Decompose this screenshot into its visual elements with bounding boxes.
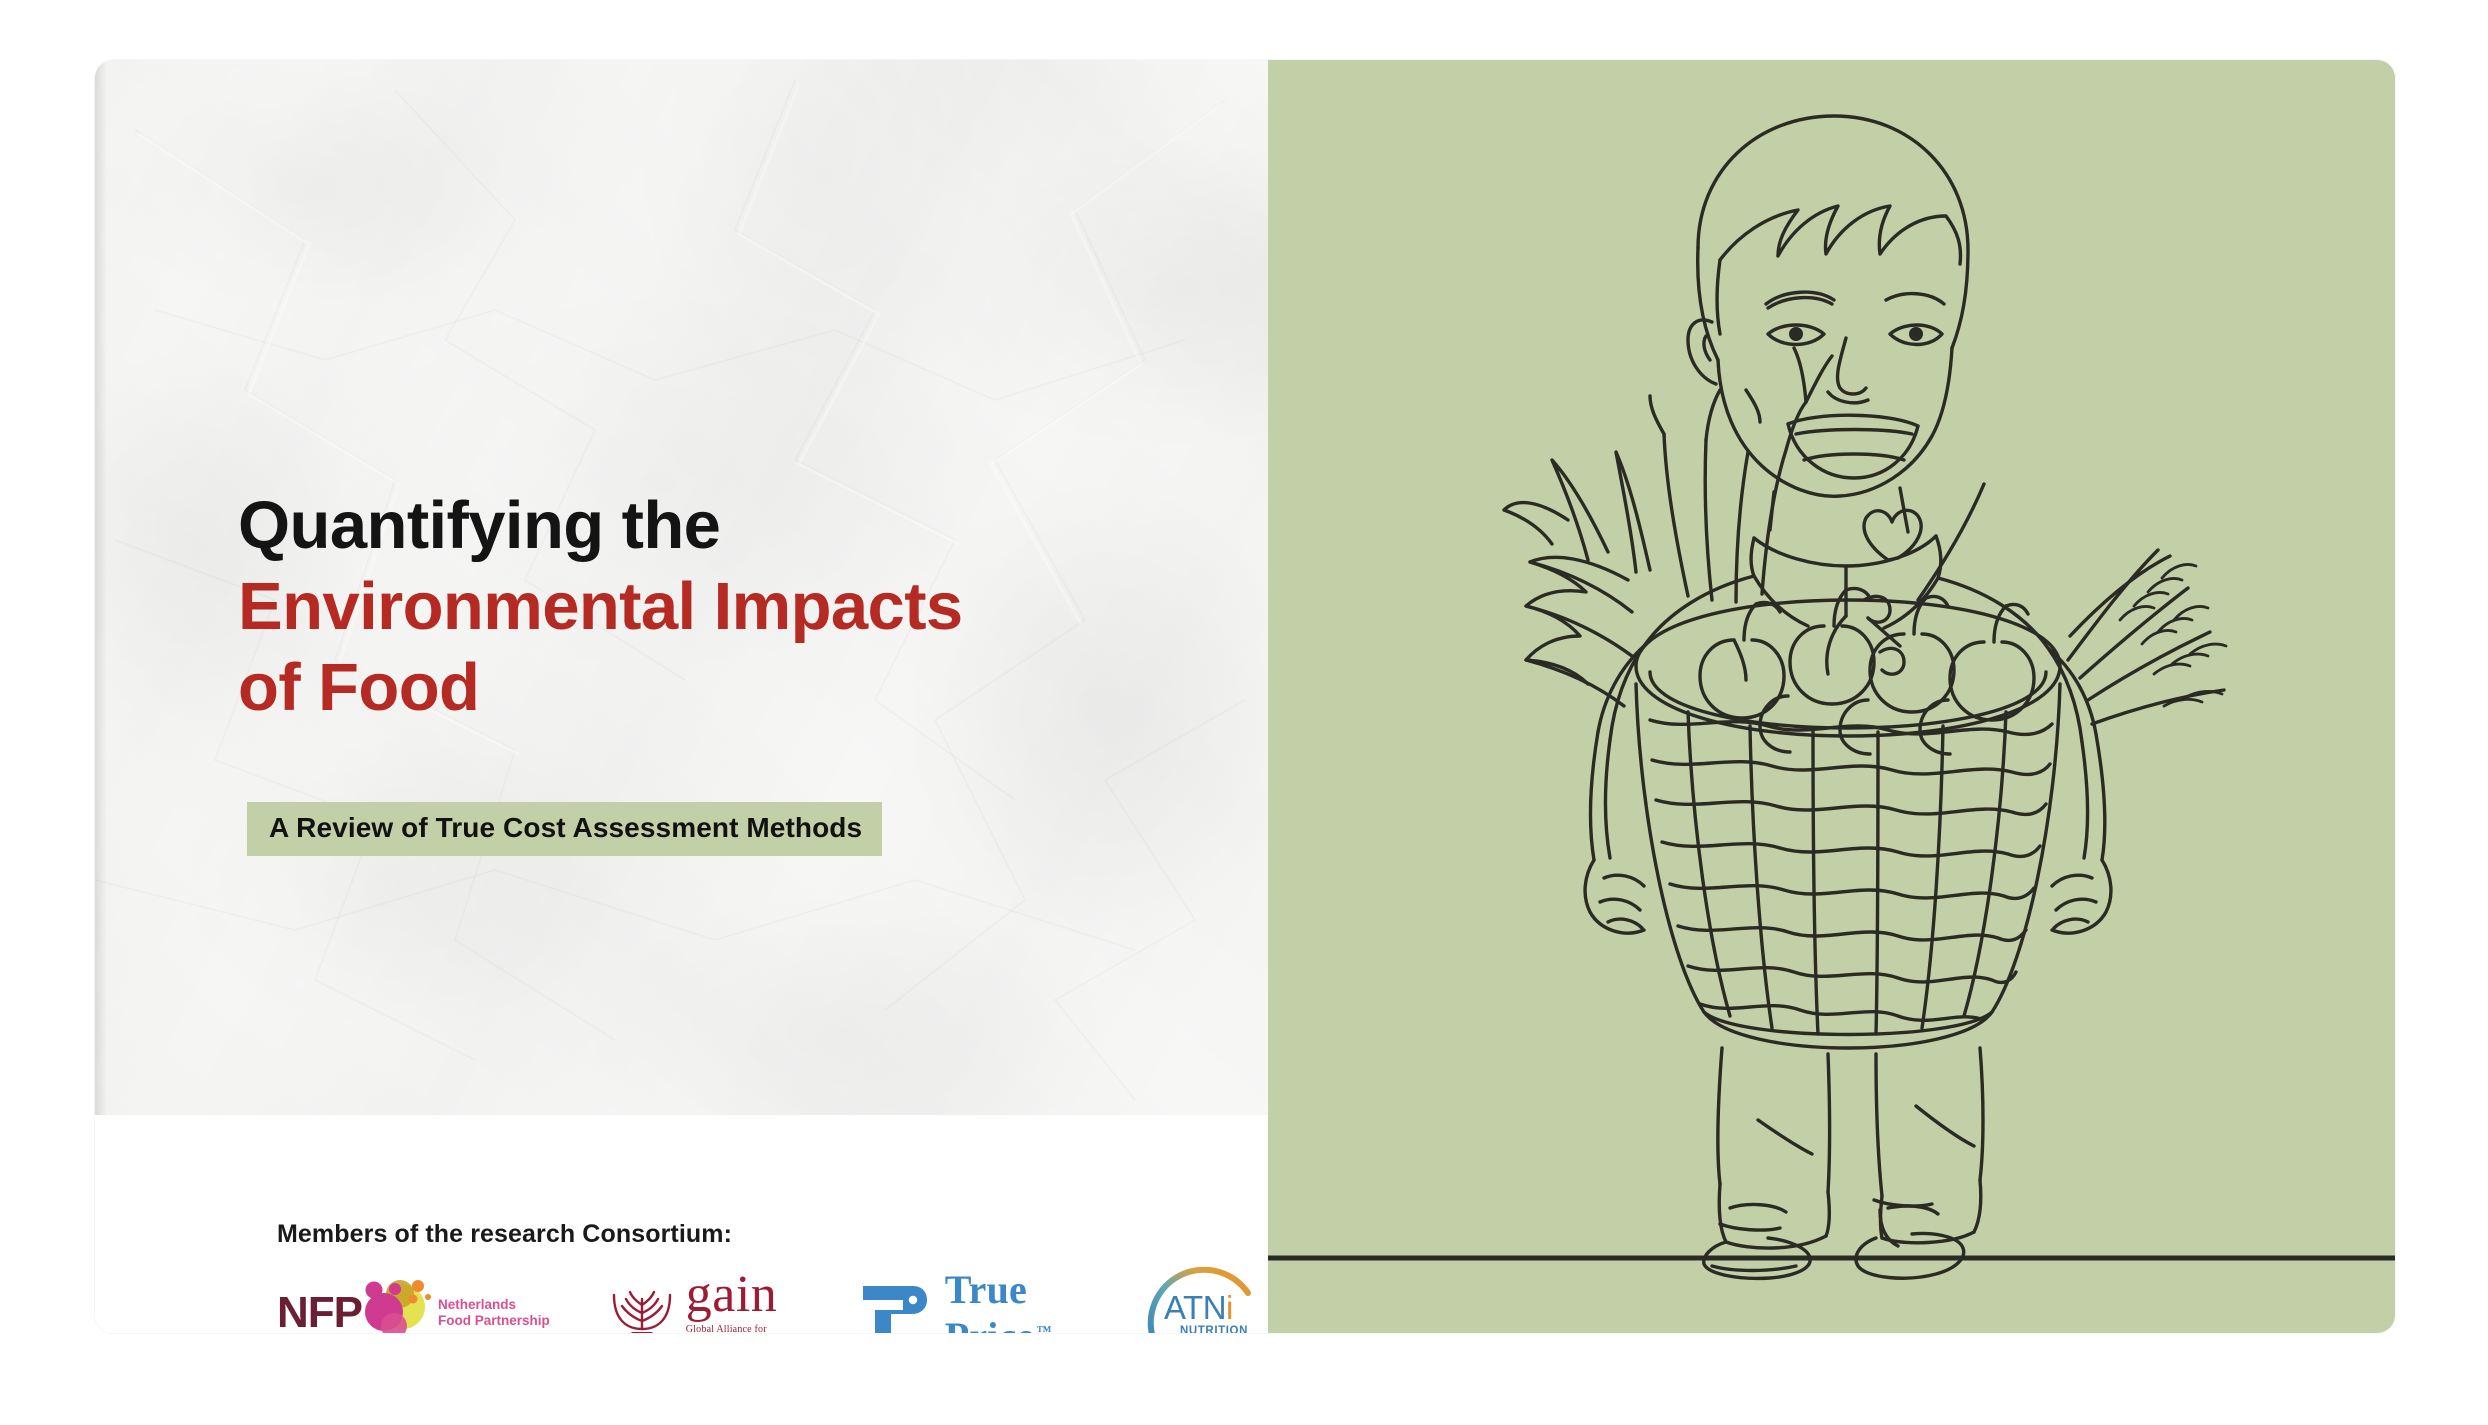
gain-wordmark: gain xyxy=(686,1266,778,1323)
title-line-3: of Food xyxy=(238,647,1218,728)
cover-card: Quantifying the Environmental Impacts of… xyxy=(95,60,2395,1333)
consortium-label: Members of the research Consortium: xyxy=(277,1220,1268,1249)
title-line-2: Environmental Impacts xyxy=(238,566,1218,647)
cover-right-panel xyxy=(1268,60,2395,1333)
logo-nfp[interactable]: NFP xyxy=(277,1267,550,1333)
true-price-wordmark: True Price™ xyxy=(945,1266,1072,1333)
title-line-1: Quantifying the xyxy=(238,485,1218,566)
nfp-tagline-line-1: Netherlands xyxy=(438,1297,516,1312)
svg-text:ATN: ATN xyxy=(1164,1289,1226,1326)
consortium-logo-row: NFP xyxy=(277,1267,1268,1333)
cover-left-panel: Quantifying the Environmental Impacts of… xyxy=(95,60,1268,1333)
nfp-wordmark: NFP xyxy=(277,1291,362,1333)
logo-true-price[interactable]: True Price™ xyxy=(857,1267,1072,1333)
paper-edge-shadow xyxy=(95,60,107,1115)
svg-text:i: i xyxy=(1226,1289,1233,1326)
gain-tagline: Global Alliance for Improved Nutrition xyxy=(686,1324,768,1333)
page-title: Quantifying the Environmental Impacts of… xyxy=(238,485,1218,728)
gain-text-block: gain Global Alliance for Improved Nutrit… xyxy=(686,1271,799,1333)
true-price-wordmark-text: True Price xyxy=(945,1267,1035,1333)
true-price-trademark: ™ xyxy=(1037,1324,1052,1333)
logo-gain[interactable]: gain Global Alliance for Improved Nutrit… xyxy=(608,1267,799,1333)
page-subtitle: A Review of True Cost Assessment Methods xyxy=(247,802,882,856)
gain-wheat-bowl-icon xyxy=(608,1285,676,1333)
gain-tagline-line-1: Global Alliance for xyxy=(686,1324,767,1333)
atni-arc-icon: ATN i NUTRITION MARKETS IMPACT xyxy=(1130,1267,1268,1333)
svg-text:NUTRITION: NUTRITION xyxy=(1180,1325,1248,1333)
nfp-tagline-line-2: Food Partnership xyxy=(438,1313,550,1328)
consortium-section: Members of the research Consortium: NFP xyxy=(277,1220,1268,1333)
subtitle-container: A Review of True Cost Assessment Methods xyxy=(247,802,882,856)
nfp-tagline: Netherlands Food Partnership xyxy=(438,1297,550,1329)
logo-atni[interactable]: ATN i NUTRITION MARKETS IMPACT xyxy=(1130,1267,1268,1333)
nfp-blob-icon xyxy=(356,1277,434,1333)
true-price-tag-icon xyxy=(857,1280,929,1333)
child-with-basket-illustration xyxy=(1268,60,2395,1333)
